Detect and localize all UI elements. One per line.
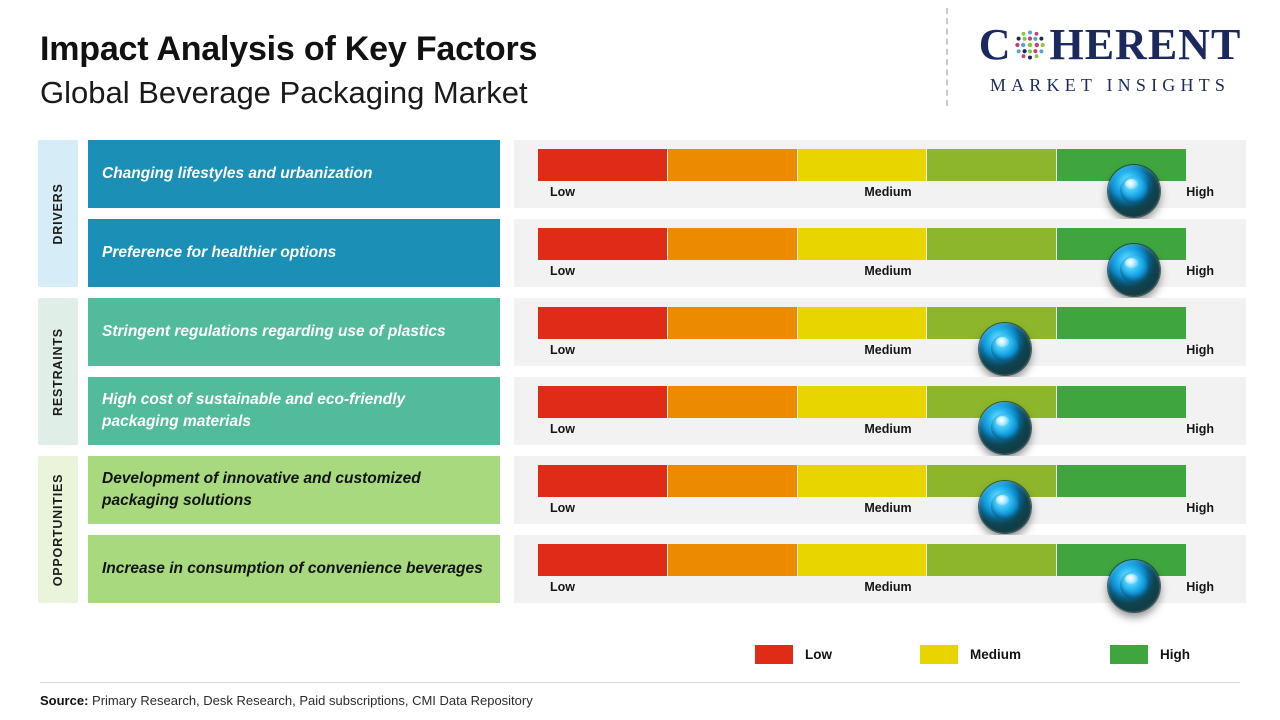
scale-label-low: Low — [550, 501, 575, 515]
legend-label: High — [1160, 647, 1190, 662]
scale-label-medium: Medium — [864, 580, 911, 594]
gauge-segment-1 — [538, 149, 668, 181]
gauge-segment-4 — [927, 149, 1057, 181]
gauge-segment-2 — [668, 544, 798, 576]
gauge-scale: LowMediumHigh — [538, 343, 1230, 361]
gauge-segment-2 — [668, 307, 798, 339]
logo-tagline: MARKET INSIGHTS — [960, 75, 1260, 96]
gauge-scale: LowMediumHigh — [538, 264, 1230, 282]
scale-label-high: High — [1186, 343, 1214, 357]
gauge-segment-5 — [1057, 386, 1186, 418]
scale-label-medium: Medium — [864, 422, 911, 436]
scale-label-medium: Medium — [864, 343, 911, 357]
scale-label-high: High — [1186, 501, 1214, 515]
gauge-segment-3 — [798, 149, 928, 181]
category-group-opportunities: OPPORTUNITIESDevelopment of innovative a… — [0, 456, 1280, 603]
impact-gauge: LowMediumHigh — [514, 456, 1246, 524]
factor-label: Development of innovative and customized… — [102, 468, 486, 512]
impact-gauge: LowMediumHigh — [514, 140, 1246, 208]
scale-label-medium: Medium — [864, 264, 911, 278]
gauge-bar — [538, 149, 1186, 181]
scale-label-low: Low — [550, 580, 575, 594]
logo-letters-herent: HERENT — [1049, 23, 1241, 67]
gauge-scale: LowMediumHigh — [538, 580, 1230, 598]
gauge-scale: LowMediumHigh — [538, 501, 1230, 519]
header-dashed-divider — [946, 8, 948, 106]
company-logo: C — [960, 22, 1260, 96]
gauge-segment-1 — [538, 544, 668, 576]
gauge-segment-1 — [538, 228, 668, 260]
gauge-segment-3 — [798, 465, 928, 497]
factor-label-box: High cost of sustainable and eco-friendl… — [88, 377, 500, 445]
gauge-segment-2 — [668, 465, 798, 497]
legend-label: Low — [805, 647, 832, 662]
gauge-segment-3 — [798, 386, 928, 418]
gauge-bar — [538, 465, 1186, 497]
gauge-segment-5 — [1057, 307, 1186, 339]
gauge-segment-1 — [538, 307, 668, 339]
impact-gauge: LowMediumHigh — [514, 535, 1246, 603]
factor-label-box: Changing lifestyles and urbanization — [88, 140, 500, 208]
source-line: Source: Primary Research, Desk Research,… — [40, 693, 533, 708]
impact-gauge: LowMediumHigh — [514, 219, 1246, 287]
scale-label-low: Low — [550, 185, 575, 199]
gauge-bar — [538, 307, 1186, 339]
scale-label-medium: Medium — [864, 185, 911, 199]
scale-label-high: High — [1186, 185, 1214, 199]
factor-label: High cost of sustainable and eco-friendl… — [102, 389, 486, 433]
gauge-scale: LowMediumHigh — [538, 422, 1230, 440]
globe-dot-icon — [1012, 27, 1048, 63]
scale-label-low: Low — [550, 343, 575, 357]
gauge-segment-3 — [798, 228, 928, 260]
legend-item-medium: Medium — [920, 645, 1021, 664]
factor-label-box: Development of innovative and customized… — [88, 456, 500, 524]
gauge-segment-2 — [668, 386, 798, 418]
source-text: Primary Research, Desk Research, Paid su… — [88, 693, 532, 708]
legend-swatch — [920, 645, 958, 664]
gauge-segment-1 — [538, 465, 668, 497]
category-group-restraints: RESTRAINTSStringent regulations regardin… — [0, 298, 1280, 445]
gauge-segment-2 — [668, 228, 798, 260]
legend-label: Medium — [970, 647, 1021, 662]
scale-label-high: High — [1186, 422, 1214, 436]
factor-row: Preference for healthier optionsLowMediu… — [0, 219, 1280, 287]
gauge-segment-1 — [538, 386, 668, 418]
legend-item-high: High — [1110, 645, 1190, 664]
scale-label-medium: Medium — [864, 501, 911, 515]
factor-label: Changing lifestyles and urbanization — [102, 163, 372, 185]
page-title: Impact Analysis of Key Factors — [40, 30, 740, 68]
gauge-segment-2 — [668, 149, 798, 181]
impact-gauge: LowMediumHigh — [514, 377, 1246, 445]
gauge-bar — [538, 386, 1186, 418]
gauge-bar — [538, 544, 1186, 576]
factor-label-box: Increase in consumption of convenience b… — [88, 535, 500, 603]
source-label: Source: — [40, 693, 88, 708]
scale-label-high: High — [1186, 580, 1214, 594]
legend-item-low: Low — [755, 645, 832, 664]
page-subtitle: Global Beverage Packaging Market — [40, 74, 740, 111]
gauge-segment-3 — [798, 307, 928, 339]
factor-label-box: Stringent regulations regarding use of p… — [88, 298, 500, 366]
scale-label-low: Low — [550, 264, 575, 278]
gauge-segment-5 — [1057, 465, 1186, 497]
legend-swatch — [1110, 645, 1148, 664]
factor-row: High cost of sustainable and eco-friendl… — [0, 377, 1280, 445]
factor-row: Development of innovative and customized… — [0, 456, 1280, 524]
gauge-segment-4 — [927, 228, 1057, 260]
footer-divider — [40, 682, 1240, 683]
infographic-page: Impact Analysis of Key Factors Global Be… — [0, 0, 1280, 720]
category-group-drivers: DRIVERSChanging lifestyles and urbanizat… — [0, 140, 1280, 287]
scale-label-low: Low — [550, 422, 575, 436]
factor-label-box: Preference for healthier options — [88, 219, 500, 287]
logo-wordmark: C — [960, 22, 1260, 68]
factor-label: Preference for healthier options — [102, 242, 336, 264]
factor-row: Increase in consumption of convenience b… — [0, 535, 1280, 603]
factor-label: Increase in consumption of convenience b… — [102, 558, 483, 580]
impact-gauge: LowMediumHigh — [514, 298, 1246, 366]
legend-swatch — [755, 645, 793, 664]
gauge-segment-4 — [927, 544, 1057, 576]
gauge-segment-3 — [798, 544, 928, 576]
factor-label: Stringent regulations regarding use of p… — [102, 321, 446, 343]
logo-letter-c: C — [979, 23, 1012, 67]
legend: LowMediumHigh — [755, 645, 1215, 669]
gauge-bar — [538, 228, 1186, 260]
gauge-scale: LowMediumHigh — [538, 185, 1230, 203]
header-title-block: Impact Analysis of Key Factors Global Be… — [40, 30, 740, 111]
factor-row: Changing lifestyles and urbanizationLowM… — [0, 140, 1280, 208]
scale-label-high: High — [1186, 264, 1214, 278]
factor-row: Stringent regulations regarding use of p… — [0, 298, 1280, 366]
